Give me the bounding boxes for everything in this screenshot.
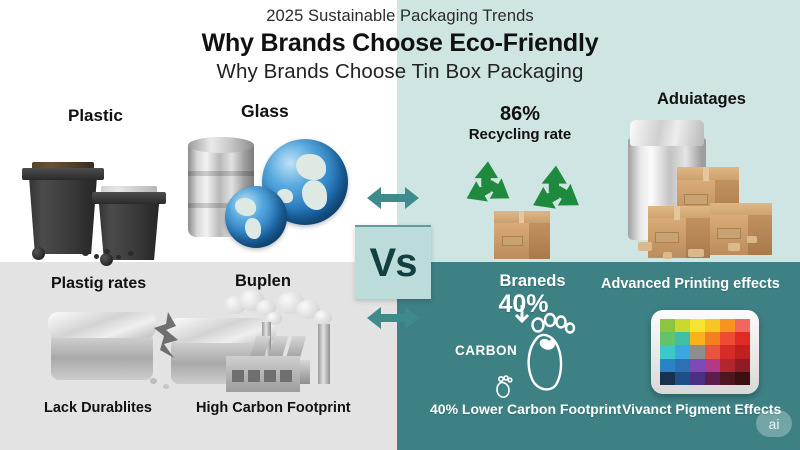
box-label [502, 236, 523, 246]
palette-swatch [735, 332, 750, 345]
palette-swatch [705, 345, 720, 358]
caption-vivanct-pigment-effects: Vivanct Pigment Effects [622, 401, 781, 417]
label-carbon: CARBON [455, 343, 517, 358]
trash-bin-icon [20, 150, 180, 260]
palette-swatch [690, 332, 705, 345]
palette-swatch [735, 359, 750, 372]
label-advantages: Aduiatages [657, 90, 746, 109]
factory-window [264, 370, 276, 382]
tin-box-lid [630, 120, 704, 146]
can-lid [188, 137, 254, 153]
can-ring [188, 171, 254, 176]
trash-bin-large [26, 162, 100, 254]
label-plastic: Plastic [68, 106, 123, 126]
globe-landmass [245, 218, 261, 239]
globe-landmass [296, 154, 325, 180]
recycling-rate-value: 86% [455, 103, 585, 125]
box-debris [663, 252, 672, 259]
palette-swatch [660, 319, 675, 332]
broken-tin-icon [48, 312, 156, 380]
versus-badge: Vs [355, 225, 431, 299]
palette-swatch [675, 345, 690, 358]
bin-rim [22, 168, 105, 180]
caption-lower-carbon-footprint: 40% Lower Carbon Footprint [430, 401, 621, 417]
color-palette-icon [651, 310, 759, 394]
bin-rim [92, 192, 166, 204]
label-glass: Glass [241, 101, 289, 122]
palette-swatch [705, 359, 720, 372]
cardboard-box-icon [494, 211, 550, 259]
palette-swatch [660, 372, 675, 385]
box-tape [519, 211, 524, 223]
box-label [717, 228, 740, 239]
palette-swatch [720, 345, 735, 358]
palette-swatch [720, 359, 735, 372]
debris-crumb [104, 249, 110, 254]
box-debris [638, 242, 652, 251]
debris-crumb [128, 251, 134, 256]
palette-swatch [720, 372, 735, 385]
factory-window [232, 370, 244, 382]
factory-smokestack-icon [222, 290, 346, 392]
palette-swatch [675, 332, 690, 345]
carbon-reduction-stat: Braneds 40% [470, 272, 595, 317]
globe-landmass [235, 198, 256, 215]
smoke-puff [314, 310, 332, 325]
label-buplen: Buplen [235, 272, 291, 291]
palette-swatch [735, 319, 750, 332]
bin-body [26, 176, 100, 254]
box-tape [703, 167, 709, 181]
tin-base [51, 332, 153, 380]
label-advanced-printing-effects: Advanced Printing effects [601, 276, 780, 292]
recycling-arrows-icon [459, 158, 517, 214]
bin-wheel [100, 253, 113, 266]
tin-debris [163, 384, 169, 389]
debris-crumb [116, 255, 121, 259]
palette-swatch [735, 372, 750, 385]
palette-swatch [660, 359, 675, 372]
factory-window [280, 370, 292, 382]
palette-swatch [660, 332, 675, 345]
palette-swatch [675, 359, 690, 372]
label-braneds: Braneds [470, 272, 595, 290]
box-debris [747, 236, 757, 243]
palette-swatch [720, 332, 735, 345]
globe-icon-small [225, 186, 287, 248]
caption-lack-durablites: Lack Durablites [44, 400, 152, 416]
palette-swatch [690, 345, 705, 358]
palette-swatch [675, 372, 690, 385]
ai-watermark: ai [756, 410, 792, 437]
palette-swatch [735, 345, 750, 358]
caption-high-carbon-footprint: High Carbon Footprint [196, 400, 351, 416]
palette-swatch [690, 319, 705, 332]
palette-swatch [720, 319, 735, 332]
factory-building [226, 356, 300, 392]
recycling-rate-label: Recycling rate [455, 126, 585, 143]
recycling-rate-stat: 86% Recycling rate [455, 103, 585, 143]
globe-landmass [302, 180, 328, 209]
palette-swatch [690, 359, 705, 372]
double-arrow-icon-top [365, 183, 421, 213]
carbon-footprint-small-icon [492, 375, 518, 399]
palette-swatch [705, 319, 720, 332]
cardboard-box-icon [710, 203, 772, 255]
double-arrow-icon-bottom [365, 303, 421, 333]
smokestack [318, 324, 330, 384]
debris-crumb [94, 254, 99, 259]
box-tape [674, 206, 680, 220]
box-side [529, 223, 550, 259]
palette-swatch [675, 319, 690, 332]
palette-swatch [705, 372, 720, 385]
debris-crumb [82, 250, 89, 256]
palette-swatch [705, 332, 720, 345]
palette-swatch-grid [660, 319, 750, 385]
label-plastig-rates: Plastig rates [51, 275, 146, 293]
box-label [655, 232, 678, 243]
box-debris [728, 243, 740, 251]
versus-label: Vs [370, 243, 417, 283]
tin-lid [48, 312, 156, 338]
box-label [684, 194, 707, 205]
box-debris [688, 249, 704, 257]
infographic-canvas: 2025 Sustainable Packaging Trends Why Br… [0, 0, 800, 450]
palette-swatch [690, 372, 705, 385]
factory-window [248, 370, 260, 382]
crack-shape-icon [148, 310, 190, 366]
carbon-reduction-value: 40% [452, 291, 595, 317]
palette-swatch [660, 345, 675, 358]
bin-wheel [32, 247, 45, 260]
